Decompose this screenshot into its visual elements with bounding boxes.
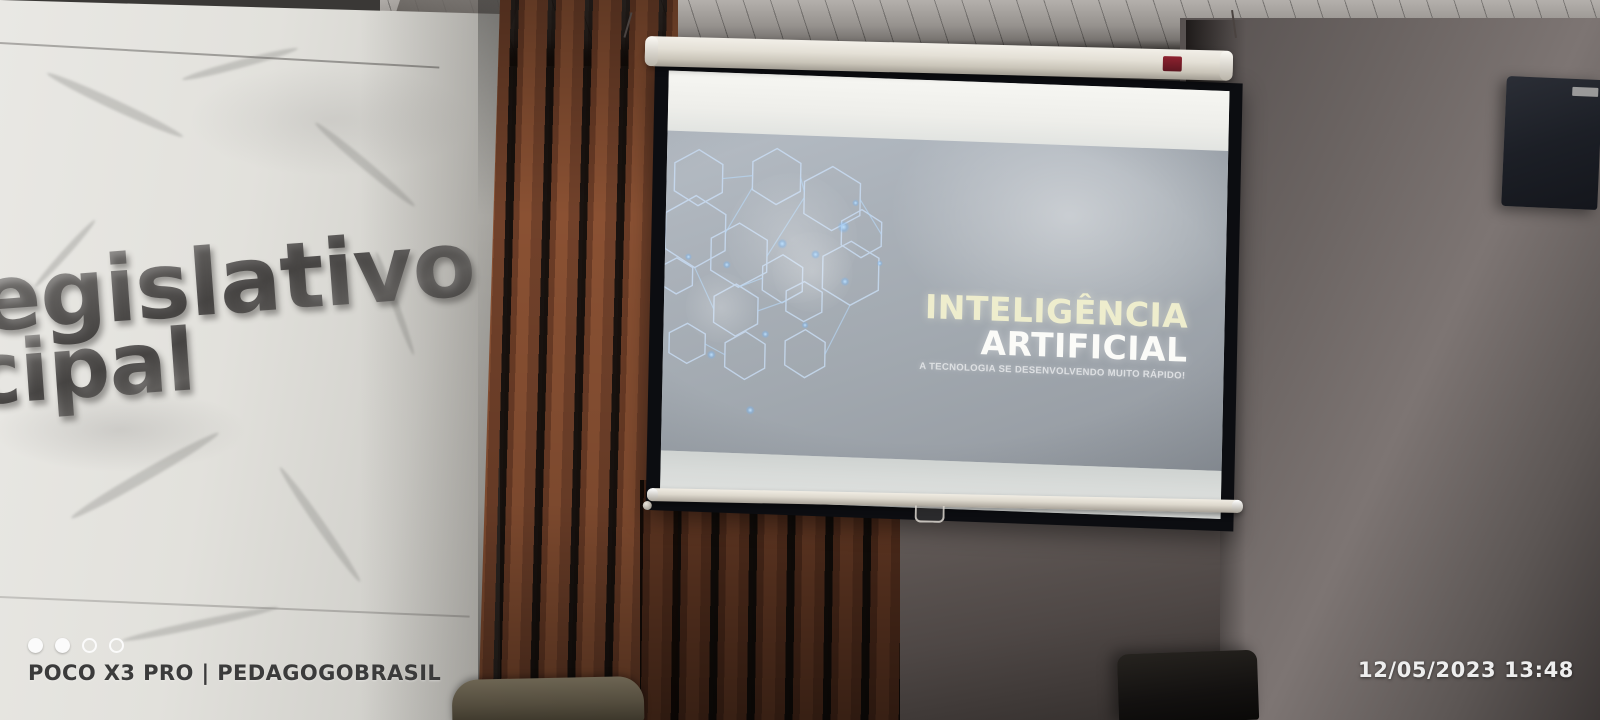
screen-pull-handle[interactable] xyxy=(914,505,944,523)
device-label xyxy=(1572,87,1598,97)
photo-timestamp: 12/05/2023 13:48 xyxy=(1358,658,1574,682)
watermark-dot xyxy=(82,638,97,653)
wall-mounted-device xyxy=(1501,76,1600,210)
watermark-dot xyxy=(109,638,124,653)
chair-foreground-right xyxy=(1117,650,1259,720)
case-end-cap-right xyxy=(1219,51,1233,81)
watermark-dots xyxy=(28,638,124,653)
screen-surface: INTELIGÊNCIA ARTIFICIAL A TECNOLOGIA SE … xyxy=(660,71,1230,519)
case-end-cap-left xyxy=(645,36,659,66)
screen-frame: INTELIGÊNCIA ARTIFICIAL A TECNOLOGIA SE … xyxy=(646,62,1243,531)
watermark-text: POCO X3 PRO | PEDAGOGOBRASIL xyxy=(28,661,441,685)
projector-screen: INTELIGÊNCIA ARTIFICIAL A TECNOLOGIA SE … xyxy=(645,36,1245,506)
bar-end-cap-left xyxy=(647,488,658,501)
chair-foreground-left xyxy=(452,676,645,720)
screen-brand-label xyxy=(1163,56,1182,71)
watermark-dot xyxy=(55,638,70,653)
watermark-dot xyxy=(28,638,43,653)
slide-title-secondary: ARTIFICIAL xyxy=(980,323,1188,370)
bar-end-cap-right xyxy=(1232,500,1243,513)
photograph: egislativo cipal xyxy=(0,0,1600,720)
projected-slide: INTELIGÊNCIA ARTIFICIAL A TECNOLOGIA SE … xyxy=(661,130,1228,470)
